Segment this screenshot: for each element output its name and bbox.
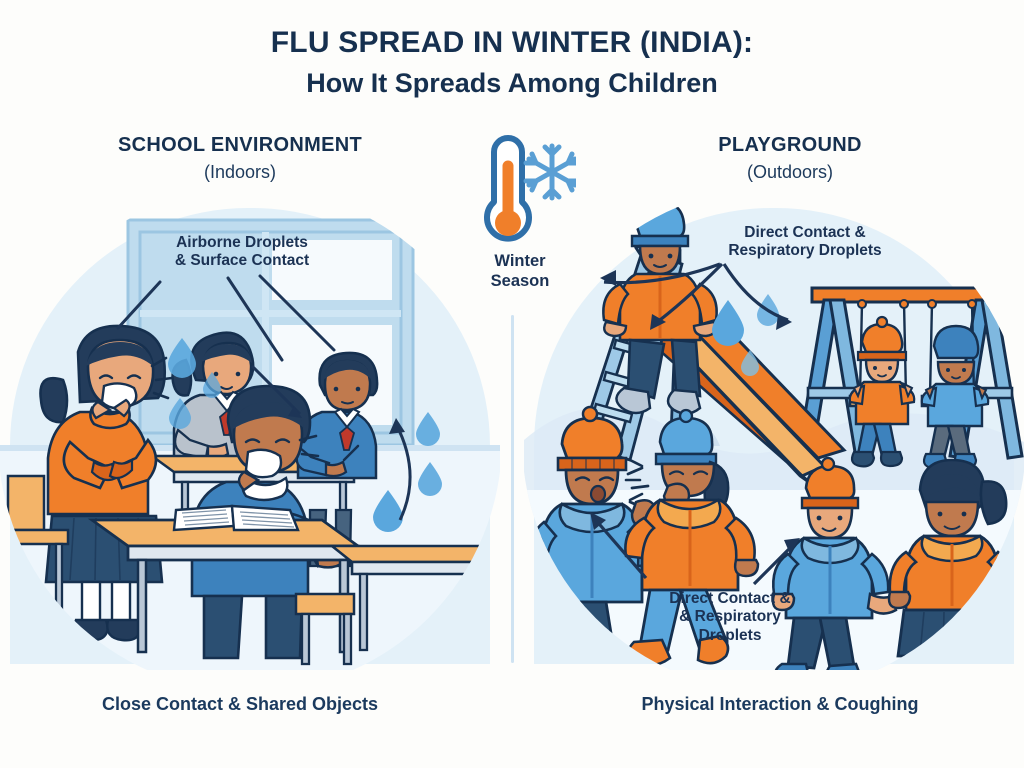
right-annotation-bottom-line2: & Respiratory [620, 608, 840, 626]
right-annotation-bottom-line1: Direct Contact & [620, 590, 840, 608]
right-panel-subheading: (Outdoors) [580, 162, 1000, 183]
left-panel-heading: SCHOOL ENVIRONMENT [30, 134, 450, 157]
left-annotation: Airborne Droplets & Surface Contact [122, 234, 362, 271]
left-annotation-line2: & Surface Contact [122, 252, 362, 270]
right-annotation-top-line1: Direct Contact & [690, 224, 920, 242]
left-annotation-line1: Airborne Droplets [122, 234, 362, 252]
right-annotation-top: Direct Contact & Respiratory Droplets [690, 224, 920, 261]
right-caption: Physical Interaction & Coughing [570, 694, 990, 715]
page-title-line1: FLU SPREAD IN WINTER (INDIA): [0, 26, 1024, 60]
right-annotation-bottom-line3: Droplets [620, 627, 840, 645]
infographic-canvas: FLU SPREAD IN WINTER (INDIA): How It Spr… [0, 0, 1024, 768]
left-caption: Close Contact & Shared Objects [30, 694, 450, 715]
right-annotation-bottom: Direct Contact & & Respiratory Droplets [620, 590, 840, 645]
panel-divider [511, 315, 514, 663]
right-annotation-top-line2: Respiratory Droplets [690, 242, 920, 260]
left-panel-subheading: (Indoors) [30, 162, 450, 183]
page-title-line2: How It Spreads Among Children [0, 68, 1024, 99]
thermometer-icon [487, 138, 529, 239]
right-panel-heading: PLAYGROUND [580, 134, 1000, 157]
